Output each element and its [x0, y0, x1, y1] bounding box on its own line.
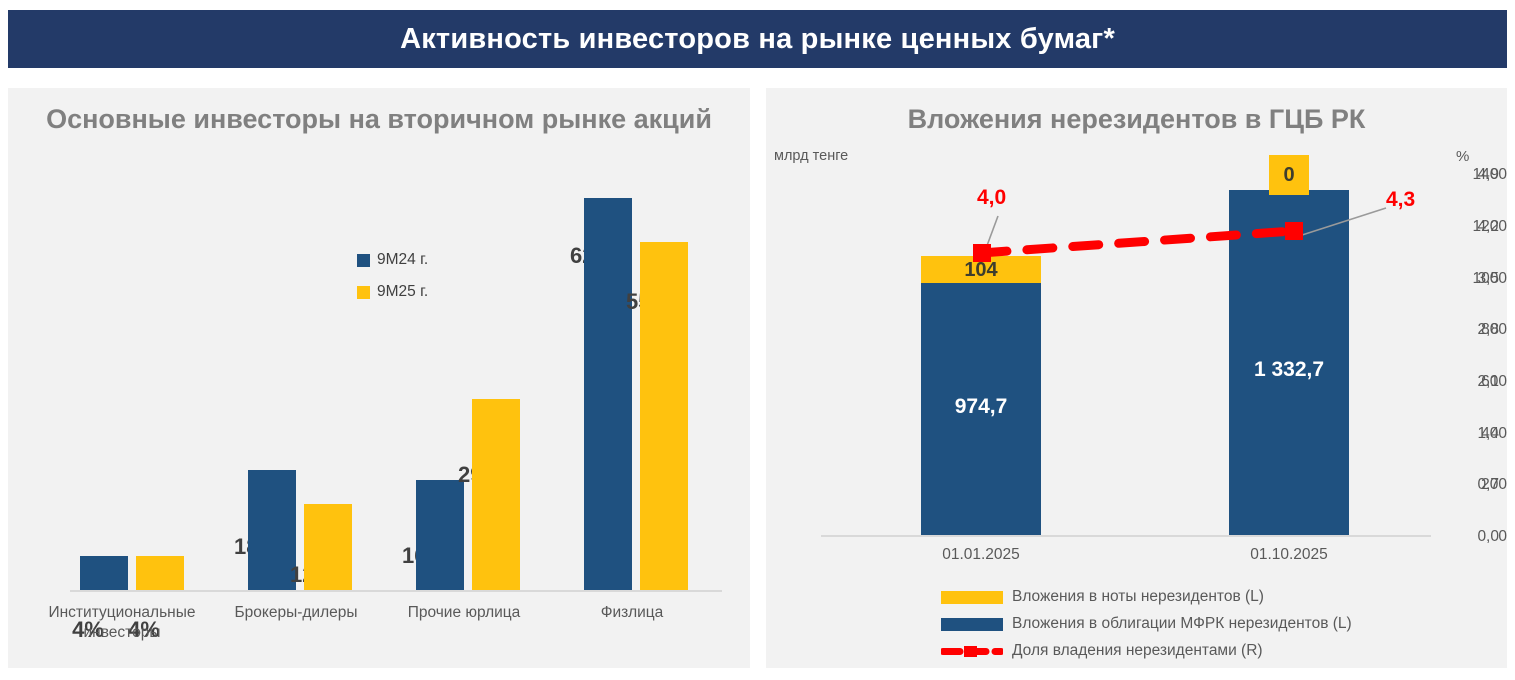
legend-label-bonds: Вложения в облигации МФРК нерезидентов (… [1012, 615, 1352, 633]
y-axis-tick-right: 2,1 [1447, 373, 1499, 391]
legend-dashed-line-icon [941, 645, 1003, 658]
page-header-bar: Активность инвесторов на рынке ценных бу… [8, 10, 1507, 68]
legend-item-share[interactable]: Доля владения нерезидентами (R) [941, 642, 1352, 660]
x-axis-label-2025-10-01: 01.10.2025 [1209, 546, 1369, 564]
y-axis-tick-right: 0,7 [1447, 476, 1499, 494]
share-value-label-2025-01-01: 4,0 [977, 186, 1006, 210]
y-axis-tick-right: 4,2 [1447, 218, 1499, 236]
bar-value-notes-01-10-2025: 0 [1269, 164, 1309, 187]
bar-value-bonds-01-10-2025: 1 332,7 [1229, 358, 1349, 382]
share-line-overlay [766, 88, 1507, 668]
left-chart-axis-line [70, 590, 722, 592]
right-chart-panel: Вложения нерезидентов в ГЦБ РК млрд тенг… [766, 88, 1507, 668]
right-chart-axis-line [821, 535, 1431, 537]
bar-9m25-brokers[interactable] [304, 504, 352, 590]
y-axis-right-unit-label: % [1456, 148, 1469, 165]
y-axis-tick-right: 2,8 [1447, 321, 1499, 339]
y-axis-tick-right: 4,9 [1447, 166, 1499, 184]
legend-label-share: Доля владения нерезидентами (R) [1012, 642, 1263, 660]
legend-label-notes: Вложения в ноты нерезидентов (L) [1012, 588, 1264, 606]
bar-9m24-other-legal[interactable] [416, 480, 464, 590]
bar-9m24-individuals[interactable] [584, 198, 632, 590]
x-axis-label-institutional: Институциональные инвесторы [42, 603, 202, 643]
bar-value-notes-01-01-2025: 104 [921, 259, 1041, 282]
legend-swatch-bonds-icon [941, 618, 1003, 631]
legend-item-notes[interactable]: Вложения в ноты нерезидентов (L) [941, 588, 1352, 606]
bar-9m25-other-legal[interactable] [472, 399, 520, 590]
y-axis-left-unit-label: млрд тенге [774, 148, 848, 164]
right-chart-legend: Вложения в ноты нерезидентов (L) Вложени… [941, 588, 1352, 669]
left-chart-plot-area: 4% 4% 18% 12% 16% 29% 62% 55% Институцио… [8, 88, 750, 668]
legend-swatch-notes-icon [941, 591, 1003, 604]
right-chart-plot-area: млрд тенге % 1400 1200 1000 800 600 400 … [766, 88, 1507, 668]
x-axis-label-individuals: Физлица [532, 603, 732, 623]
bar-9m24-institutional[interactable] [80, 556, 128, 590]
share-value-label-2025-10-01: 4,3 [1386, 188, 1415, 212]
y-axis-tick-right: 0,0 [1447, 528, 1499, 546]
bar-9m25-individuals[interactable] [640, 242, 688, 590]
page-title: Активность инвесторов на рынке ценных бу… [400, 23, 1115, 56]
x-axis-label-2025-01-01: 01.01.2025 [901, 546, 1061, 564]
bar-value-bonds-01-01-2025: 974,7 [921, 395, 1041, 419]
y-axis-tick-right: 1,4 [1447, 425, 1499, 443]
left-chart-panel: Основные инвесторы на вторичном рынке ак… [8, 88, 750, 668]
y-axis-tick-right: 3,5 [1447, 270, 1499, 288]
bar-9m25-institutional[interactable] [136, 556, 184, 590]
legend-item-bonds[interactable]: Вложения в облигации МФРК нерезидентов (… [941, 615, 1352, 633]
